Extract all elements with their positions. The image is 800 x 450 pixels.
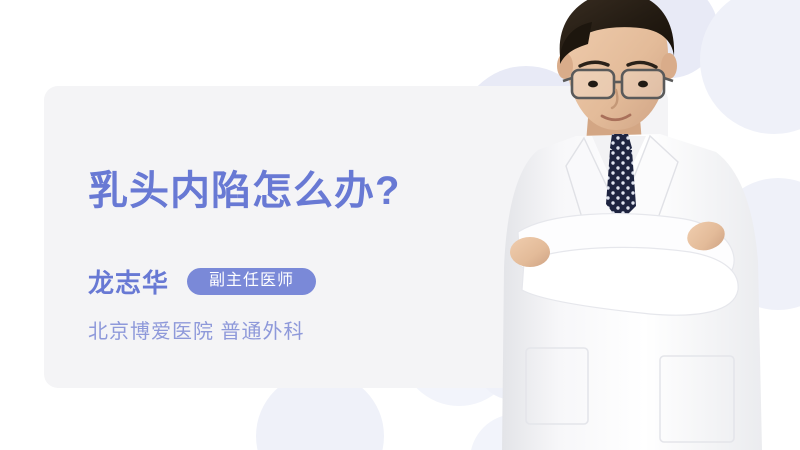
- doctor-name: 龙志华: [88, 263, 169, 300]
- status-badge: 副主任医师: [187, 268, 316, 295]
- page-title: 乳头内陷怎么办?: [88, 168, 558, 215]
- cover-card: 乳头内陷怎么办? 龙志华 副主任医师 北京博爱医院 普通外科: [0, 0, 800, 450]
- byline: 龙志华 副主任医师: [88, 265, 558, 297]
- cover-text-block: 乳头内陷怎么办? 龙志华 副主任医师 北京博爱医院 普通外科: [88, 168, 558, 344]
- affiliation-text: 北京博爱医院 普通外科: [88, 315, 558, 344]
